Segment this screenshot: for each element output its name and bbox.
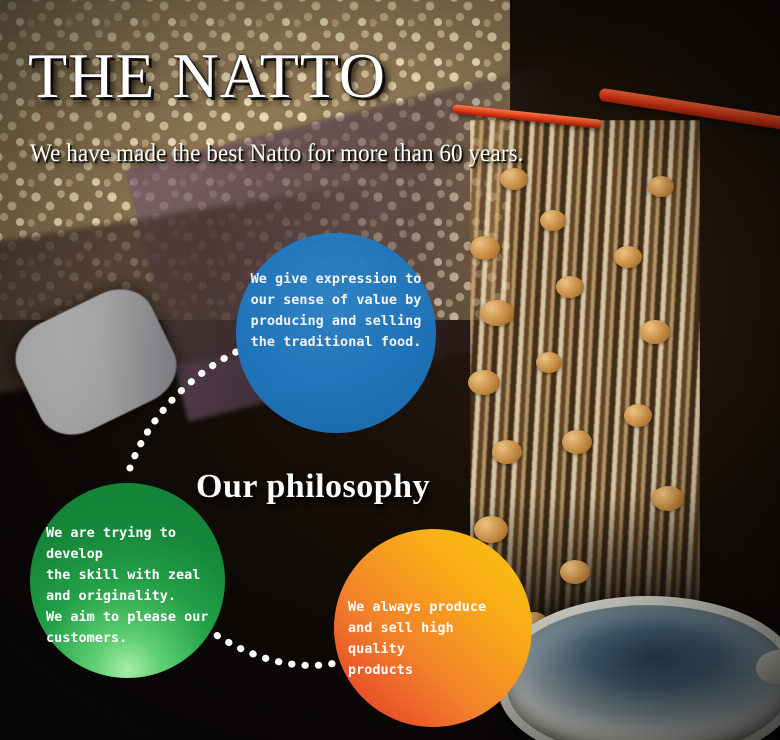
- bubble-skill-statement[interactable]: We are trying to develop the skill with …: [30, 483, 225, 678]
- hero-banner: THE NATTO We have made the best Natto fo…: [0, 0, 780, 740]
- bubble-value-text: We give expression to our sense of value…: [236, 269, 436, 353]
- bubble-quality-statement[interactable]: We always produce and sell high quality …: [334, 529, 532, 727]
- page-title: THE NATTO: [28, 44, 386, 108]
- section-heading: Our philosophy: [196, 468, 430, 506]
- bubble-value-statement[interactable]: We give expression to our sense of value…: [236, 233, 436, 433]
- bubble-quality-text: We always produce and sell high quality …: [334, 597, 532, 681]
- bubble-skill-text: We are trying to develop the skill with …: [30, 523, 225, 649]
- page-subtitle: We have made the best Natto for more tha…: [30, 140, 523, 168]
